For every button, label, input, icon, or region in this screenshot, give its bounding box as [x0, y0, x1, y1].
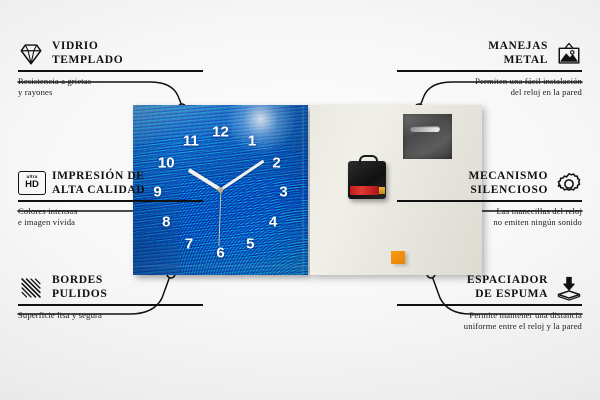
callout-subtitle-line1: Permiten una fácil instalación: [397, 76, 582, 87]
callout-subtitle-line2: del reloj en la pared: [397, 87, 582, 98]
callout-manejas-metal: MANEJAS METAL Permiten una fácil instala…: [397, 40, 582, 98]
callout-subtitle-line1: Superficie lisa y segura: [18, 310, 203, 321]
callout-title-line1: MANEJAS: [488, 40, 548, 54]
callout-title: ESPACIADOR DE ESPUMA: [467, 274, 548, 301]
clock-mechanism-box: [348, 161, 386, 199]
foam-spacer-pad: [391, 251, 405, 264]
callout-header: ultra HD IMPRESIÓN DE ALTA CALIDAD: [18, 170, 203, 197]
callout-header: BORDES PULIDOS: [18, 274, 203, 301]
polished-edges-icon: [18, 275, 44, 301]
callout-espaciador-espuma: ESPACIADOR DE ESPUMA Permite mantener un…: [397, 274, 582, 332]
callout-rule: [397, 200, 582, 202]
clock-numeral-6: 6: [216, 245, 224, 260]
hanging-frame-icon: [556, 41, 582, 67]
callout-title: IMPRESIÓN DE ALTA CALIDAD: [52, 170, 145, 197]
callout-subtitle-line2: no emiten ningún sonido: [397, 217, 582, 228]
hanger-slot: [410, 126, 440, 132]
callout-title-line2: PULIDOS: [52, 288, 107, 302]
callout-subtitle-line2: y rayones: [18, 87, 203, 98]
callout-mecanismo-silencioso: MECANISMO SILENCIOSO Las manecillas del …: [397, 170, 582, 228]
callout-rule: [18, 304, 203, 306]
callout-rule: [18, 70, 203, 72]
clock-numeral-4: 4: [269, 215, 277, 230]
callout-subtitle-line1: Permite mantener una distancia: [397, 310, 582, 321]
callout-title-line1: MECANISMO: [468, 170, 548, 184]
clock-numeral-10: 10: [158, 155, 175, 170]
callout-header: ESPACIADOR DE ESPUMA: [397, 274, 582, 301]
callout-title-line1: BORDES: [52, 274, 107, 288]
mechanism-battery: [350, 186, 379, 195]
callout-rule: [397, 304, 582, 306]
callout-title: MECANISMO SILENCIOSO: [468, 170, 548, 197]
callout-subtitle-line1: Resistencia a grietas: [18, 76, 203, 87]
foam-spacer-icon: [556, 275, 582, 301]
clock-numeral-2: 2: [272, 155, 280, 170]
ultra-hd-icon: ultra HD: [18, 171, 44, 197]
callout-title: BORDES PULIDOS: [52, 274, 107, 301]
callout-subtitle-line1: Colores intensos: [18, 206, 203, 217]
callout-rule: [18, 200, 203, 202]
callout-title-line1: ESPACIADOR: [467, 274, 548, 288]
clock-numeral-5: 5: [246, 237, 254, 252]
callout-header: VIDRIO TEMPLADO: [18, 40, 203, 67]
clock-numeral-1: 1: [248, 133, 256, 148]
callout-title: VIDRIO TEMPLADO: [52, 40, 123, 67]
clock-center-pin: [218, 188, 223, 193]
callout-title-line2: ALTA CALIDAD: [52, 184, 145, 198]
callout-header: MANEJAS METAL: [397, 40, 582, 67]
callout-title-line2: TEMPLADO: [52, 54, 123, 68]
clock-numeral-3: 3: [279, 184, 287, 199]
diamond-icon: [18, 41, 44, 67]
infographic-stage: 12 1 2 3 4 5 6 7 8 9 10 11: [0, 0, 600, 400]
callout-title-line2: DE ESPUMA: [467, 288, 548, 302]
callout-title: MANEJAS METAL: [488, 40, 548, 67]
clock-numeral-11: 11: [183, 133, 199, 148]
callout-rule: [397, 70, 582, 72]
callout-title-line2: SILENCIOSO: [468, 184, 548, 198]
metal-hanger-plate: [403, 114, 452, 159]
callout-title-line1: VIDRIO: [52, 40, 123, 54]
clock-numeral-12: 12: [212, 125, 229, 140]
ultra-hd-icon-main-text: HD: [25, 180, 39, 190]
callout-title-line2: METAL: [488, 54, 548, 68]
callout-subtitle-line2: e imagen vívida: [18, 217, 203, 228]
callout-impresion-alta-calidad: ultra HD IMPRESIÓN DE ALTA CALIDAD Color…: [18, 170, 203, 228]
callout-bordes-pulidos: BORDES PULIDOS Superficie lisa y segura: [18, 274, 203, 321]
callout-header: MECANISMO SILENCIOSO: [397, 170, 582, 197]
callout-subtitle-line1: Las manecillas del reloj: [397, 206, 582, 217]
mechanism-hanging-loop: [359, 155, 378, 166]
callout-title-line1: IMPRESIÓN DE: [52, 170, 145, 184]
callout-subtitle-line2: uniforme entre el reloj y la pared: [397, 321, 582, 332]
clock-numeral-7: 7: [185, 237, 193, 252]
callout-vidrio-templado: VIDRIO TEMPLADO Resistencia a grietas y …: [18, 40, 203, 98]
gear-icon: [556, 171, 582, 197]
